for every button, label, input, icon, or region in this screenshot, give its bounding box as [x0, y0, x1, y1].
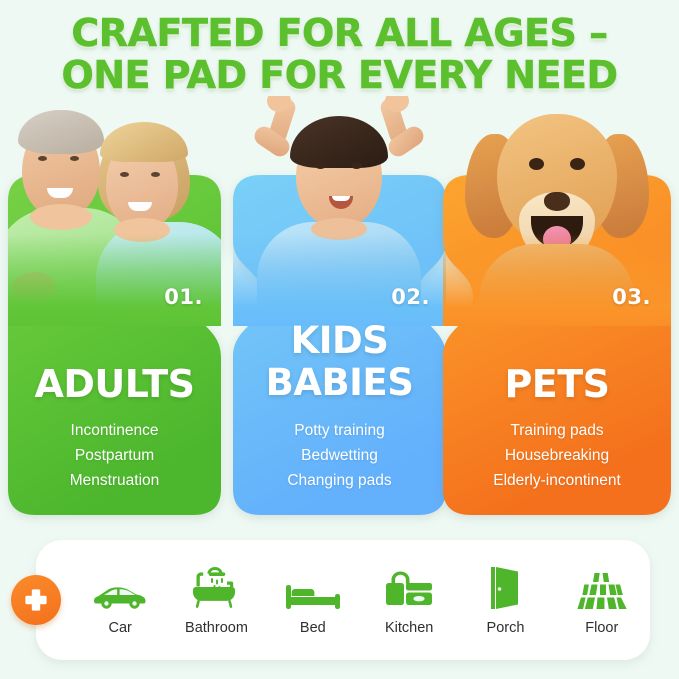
- bullet-item: Bedwetting: [243, 443, 436, 468]
- card-body-adults: ADULTS Incontinence Postpartum Menstruat…: [8, 364, 221, 515]
- bullet-item: Incontinence: [18, 418, 211, 443]
- card-number-kids-babies: 02.: [391, 285, 430, 309]
- card-number-pets: 03.: [612, 285, 651, 309]
- card-kids-babies[interactable]: 02. KIDS BABIES Potty training Bedwettin…: [233, 175, 446, 515]
- usage-label-bed: Bed: [300, 620, 326, 636]
- infographic-root: CRAFTED FOR ALL AGES – ONE PAD FOR EVERY…: [0, 0, 679, 679]
- bathtub-icon: [189, 565, 243, 611]
- bullet-item: Potty training: [243, 418, 436, 443]
- card-body-kids-babies: KIDS BABIES Potty training Bedwetting Ch…: [233, 320, 446, 515]
- usage-label-floor: Floor: [585, 620, 618, 636]
- plus-badge-icon[interactable]: [11, 575, 61, 625]
- usage-label-bathroom: Bathroom: [185, 620, 248, 636]
- bullet-item: Menstruation: [18, 468, 211, 493]
- bullet-item: Elderly-incontinent: [453, 468, 661, 493]
- bullet-item: Housebreaking: [453, 443, 661, 468]
- usage-icon-row: Car: [72, 540, 650, 660]
- headline-line-1: CRAFTED FOR ALL AGES –: [0, 12, 679, 54]
- usage-label-car: Car: [108, 620, 131, 636]
- bed-icon: [284, 565, 342, 611]
- card-title-babies: BABIES: [243, 362, 436, 404]
- card-title-kids: KIDS: [243, 320, 436, 362]
- headline-line-2: ONE PAD FOR EVERY NEED: [0, 54, 679, 96]
- bullet-item: Training pads: [453, 418, 661, 443]
- usage-item-kitchen[interactable]: Kitchen: [361, 565, 457, 636]
- usage-label-porch: Porch: [487, 620, 525, 636]
- usage-item-floor[interactable]: Floor: [554, 565, 650, 636]
- card-bullets-pets: Training pads Housebreaking Elderly-inco…: [453, 418, 661, 493]
- bullet-item: Changing pads: [243, 468, 436, 493]
- floor-planks-icon: [574, 565, 630, 611]
- card-number-adults: 01.: [164, 285, 203, 309]
- usage-item-bathroom[interactable]: Bathroom: [168, 565, 264, 636]
- usage-label-kitchen: Kitchen: [385, 620, 433, 636]
- usage-item-car[interactable]: Car: [72, 565, 168, 636]
- usage-item-porch[interactable]: Porch: [457, 565, 553, 636]
- card-pets[interactable]: 03. PETS Training pads Housebreaking Eld…: [443, 175, 671, 515]
- card-body-pets: PETS Training pads Housebreaking Elderly…: [443, 364, 671, 515]
- card-bullets-adults: Incontinence Postpartum Menstruation: [18, 418, 211, 493]
- audience-cards: 01. ADULTS Incontinence Postpartum Menst…: [0, 96, 679, 526]
- bullet-item: Postpartum: [18, 443, 211, 468]
- card-title-adults: ADULTS: [18, 364, 211, 404]
- card-adults[interactable]: 01. ADULTS Incontinence Postpartum Menst…: [8, 175, 221, 515]
- door-icon: [485, 565, 525, 611]
- card-bullets-kids-babies: Potty training Bedwetting Changing pads: [243, 418, 436, 493]
- card-title-pets: PETS: [453, 364, 661, 404]
- usage-item-bed[interactable]: Bed: [265, 565, 361, 636]
- kitchen-sink-icon: [382, 565, 436, 611]
- page-title: CRAFTED FOR ALL AGES – ONE PAD FOR EVERY…: [0, 12, 679, 96]
- car-icon: [91, 565, 149, 611]
